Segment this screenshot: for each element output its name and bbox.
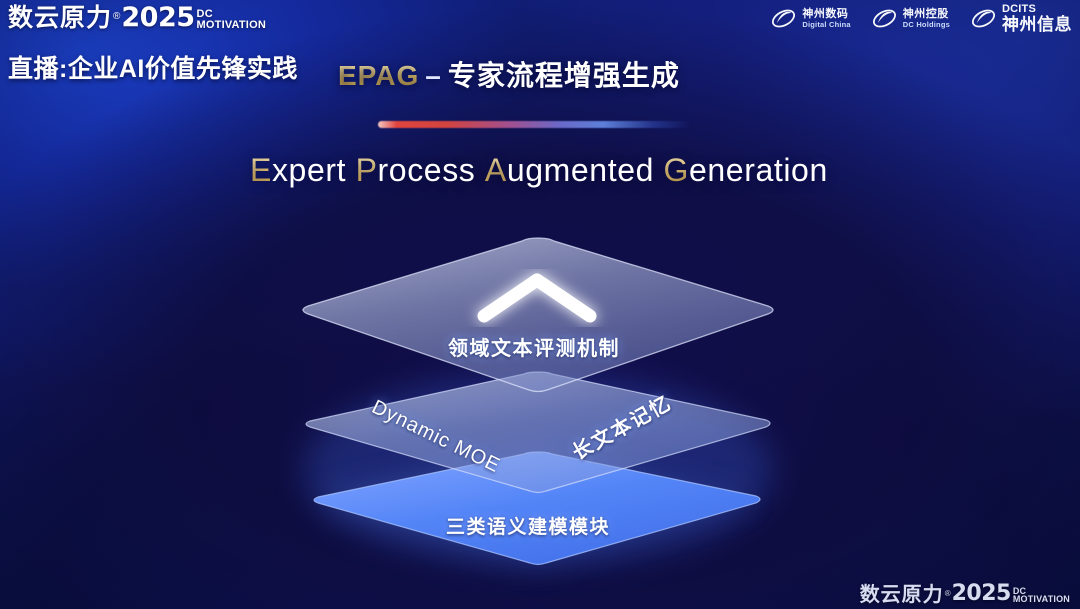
brand-motivation-label: MOTIVATION: [197, 20, 266, 30]
subtitle-cap-g: G: [664, 152, 690, 188]
subtitle-cap-p: P: [356, 152, 378, 188]
layer-label-bottom: 三类语义建模模块: [446, 512, 610, 539]
chevron-up-icon: [484, 280, 590, 316]
subtitle-rest-augmented: ugmented: [507, 152, 654, 188]
partner-name-en: DCITS: [1002, 4, 1072, 16]
brand-dc-motivation: DC MOTIVATION: [197, 9, 266, 30]
watermark-dc-motivation: DC MOTIVATION: [1013, 587, 1070, 604]
watermark-motivation-label: MOTIVATION: [1013, 595, 1070, 604]
layer-label-dynamic-moe: Dynamic MOE: [368, 396, 504, 478]
diagram-layer-middle[interactable]: [306, 372, 770, 493]
partner-name-en: DC Holdings: [903, 21, 950, 29]
brand-logo: 数云原力 ® 2025 DC MOTIVATION: [8, 4, 266, 31]
subtitle-rest-generation: eneration: [689, 152, 828, 188]
brand-year: 2025: [121, 4, 194, 31]
watermark-logo: 数云原力 ® 2025 DC MOTIVATION: [860, 583, 1070, 605]
watermark-registered-mark: ®: [945, 589, 951, 598]
swoosh-icon: [871, 5, 898, 32]
page-title-dash: –: [425, 60, 442, 91]
swoosh-icon: [770, 5, 797, 32]
partner-name-cn: 神州控股: [903, 9, 950, 21]
diagram-layer-top[interactable]: [303, 238, 773, 392]
partner-name-cn: 神州信息: [1002, 16, 1072, 34]
top-layer-surface: [303, 238, 773, 392]
partner-name-en: Digital China: [802, 21, 850, 29]
page-title: EPAG–专家流程增强生成: [338, 54, 680, 94]
subtitle-rest-process: rocess: [378, 152, 476, 188]
live-stream-banner: 直播:企业AI价值先锋实践: [8, 49, 298, 85]
page-title-cn: 专家流程增强生成: [448, 60, 680, 91]
partner-logo-digital-china: 神州数码 Digital China: [770, 5, 850, 32]
partner-logo-dc-holdings: 神州控股 DC Holdings: [871, 5, 950, 32]
watermark-year: 2025: [952, 583, 1011, 605]
bottom-layer-surface: [314, 452, 760, 565]
diagram-layer-bottom[interactable]: [312, 452, 760, 566]
page-title-acronym: EPAG: [338, 60, 419, 91]
layer-label-top: 领域文本评测机制: [448, 332, 620, 361]
slide-canvas: 数云原力 ® 2025 DC MOTIVATION 直播:企业AI价值先锋实践 …: [0, 0, 1080, 609]
title-divider: [378, 121, 691, 128]
brand-dc-label: DC: [197, 9, 266, 19]
partner-name-cn: 神州数码: [802, 9, 850, 21]
subtitle-rest-expert: xpert: [272, 152, 346, 188]
middle-layer-surface: [306, 372, 770, 493]
swoosh-icon: [970, 5, 997, 32]
brand-name-cn: 数云原力: [8, 6, 112, 31]
watermark-brand-cn: 数云原力: [860, 585, 944, 605]
partner-label-dc-holdings: 神州控股 DC Holdings: [903, 9, 950, 28]
subtitle-cap-e: E: [250, 152, 272, 188]
layer-label-long-text-memory: 长文本记忆: [566, 387, 676, 466]
partner-label-digital-china: 神州数码 Digital China: [802, 9, 850, 28]
subtitle-cap-a: A: [485, 152, 507, 188]
partner-logo-dcits: DCITS 神州信息: [970, 4, 1072, 33]
partner-logo-group: 神州数码 Digital China 神州控股 DC Holdings DCIT…: [770, 4, 1072, 33]
partner-label-dcits: DCITS 神州信息: [1002, 4, 1072, 33]
brand-registered-mark: ®: [113, 11, 120, 22]
bottom-layer-glow: [312, 452, 760, 566]
page-subtitle: Expert Process Augmented Generation: [250, 152, 828, 189]
